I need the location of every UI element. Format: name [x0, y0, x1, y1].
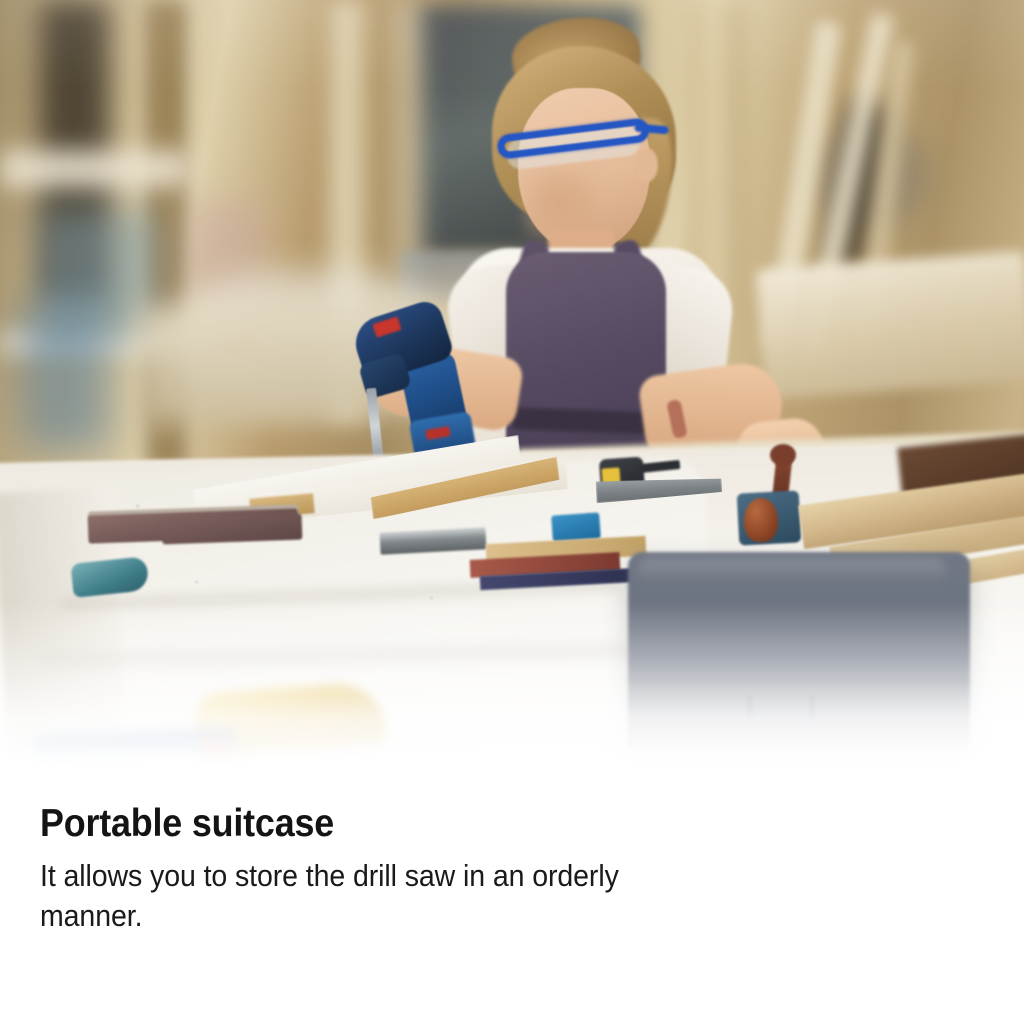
background-window-frame [398, 0, 418, 276]
blue-sanding-block [551, 512, 601, 541]
feature-description: It allows you to store the drill saw in … [40, 856, 647, 937]
face-shading [524, 168, 596, 238]
case-lid-seam [628, 680, 970, 683]
background-blue-object [20, 300, 110, 450]
background-board-stack [756, 251, 1024, 400]
drill-bit [366, 388, 384, 465]
chisel-handle-2 [162, 514, 303, 545]
background-shelf-upper [0, 150, 190, 188]
feature-title: Portable suitcase [40, 802, 905, 846]
product-feature-page: Portable suitcase It allows you to store… [0, 0, 1024, 1024]
case-latch-left [748, 696, 752, 718]
gray-carry-case [628, 552, 970, 752]
caption-block: Portable suitcase It allows you to store… [0, 772, 1024, 1024]
case-latch-right [810, 696, 814, 718]
product-photo [0, 0, 1024, 772]
hand-plane-lever-cap [770, 444, 796, 466]
foreground-red-object [200, 738, 234, 756]
case-highlight [638, 558, 946, 584]
hand-plane-knob [744, 498, 778, 542]
